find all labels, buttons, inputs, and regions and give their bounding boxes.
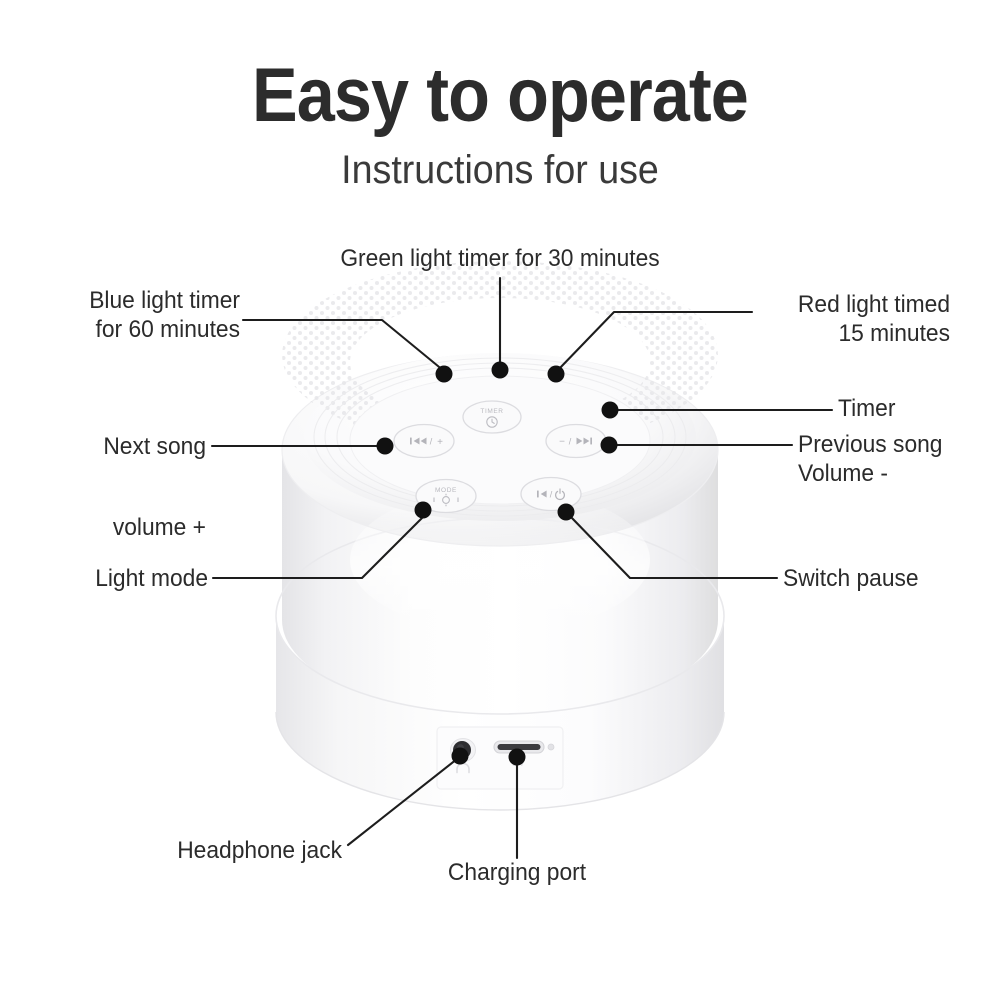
svg-text:TIMER: TIMER <box>480 408 503 415</box>
volume-down-icon: − <box>559 437 565 448</box>
button-next-volume-down[interactable]: − / <box>546 425 606 458</box>
callout-blue-light-timer: Blue light timer for 60 minutes <box>31 286 240 345</box>
callout-previous-song: Previous song Volume - <box>798 430 984 489</box>
callout-light-mode: Light mode <box>29 564 208 593</box>
button-prev-volume-up[interactable]: / + <box>394 425 454 458</box>
svg-text:MODE: MODE <box>435 487 457 494</box>
callout-red-light-timer: Red light timed 15 minutes <box>751 290 951 349</box>
button-timer[interactable]: TIMER <box>463 401 521 433</box>
volume-up-icon: + <box>437 437 443 448</box>
button-play-pause[interactable]: / <box>521 478 581 511</box>
callout-next-song: Next song <box>29 432 206 461</box>
port-status-led <box>548 744 554 750</box>
callout-switch-pause: Switch pause <box>783 564 973 593</box>
callout-charging-port: Charging port <box>403 858 631 887</box>
callout-timer: Timer <box>838 394 981 423</box>
infographic-page: Easy to operate Instructions for use <box>0 0 1000 1000</box>
callout-headphone-jack: Headphone jack <box>122 836 342 865</box>
callout-volume-up: volume + <box>29 513 206 542</box>
callout-green-light-timer: Green light timer for 30 minutes <box>310 244 690 273</box>
